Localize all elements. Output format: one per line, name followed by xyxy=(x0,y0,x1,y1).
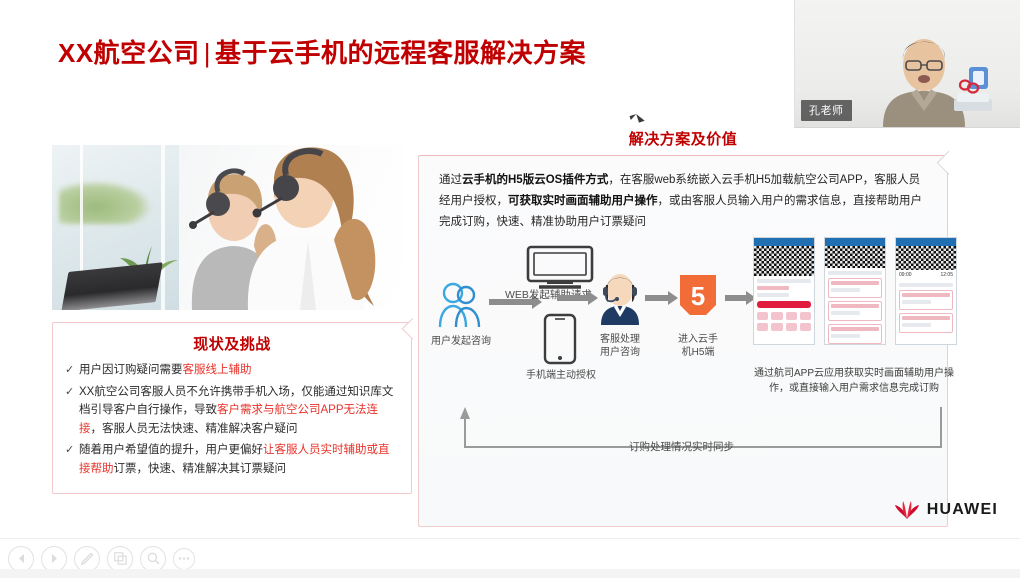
highlighted-text: 客服线上辅助 xyxy=(183,364,252,376)
page-title: XX航空公司|基于云手机的远程客服解决方案 xyxy=(58,33,586,70)
emphasis-text: 可获取实时画面辅助用户操作 xyxy=(508,195,658,207)
solution-flow-diagram: 用户发起咨询 WEB发起辅助请求 xyxy=(433,243,933,498)
toolbar-bottom-strip xyxy=(0,569,1020,578)
slide-canvas: XX航空公司|基于云手机的远程客服解决方案 xyxy=(0,0,1020,538)
phone-row xyxy=(831,311,860,315)
desk-object xyxy=(948,63,998,117)
window-greenery xyxy=(59,181,151,224)
plain-text: ，客服人员无法快速、精准解决客户疑问 xyxy=(91,423,298,435)
phone-screenshot-1 xyxy=(753,237,815,345)
flow-label-agent: 客服处理 用户咨询 xyxy=(585,333,655,359)
grid-cell xyxy=(771,323,782,331)
solution-panel: 通过云手机的H5版云OS插件方式，在客服web系统嵌入云手机H5加载航空公司AP… xyxy=(418,155,948,527)
list-item: ✓随着用户希望值的提升，用户更偏好让客服人员实时辅助或直接帮助订票，快速、精准解… xyxy=(65,441,399,478)
phones-caption: 通过航司APP云应用获取实时画面辅助用户操作，或直接输入用户需求信息完成订购 xyxy=(751,367,957,396)
fare-row xyxy=(899,313,953,333)
phone-row xyxy=(831,334,860,338)
participant-name-tag: 孔老师 xyxy=(801,100,852,121)
depart-time: 09:00 xyxy=(899,272,912,278)
phone-row xyxy=(831,281,879,285)
emphasis-text: H5版云OS xyxy=(508,174,562,186)
redacted-banner xyxy=(754,246,814,276)
flight-card xyxy=(828,324,882,344)
huawei-flower-icon xyxy=(894,500,920,520)
title-main: XX航空公司 xyxy=(58,38,200,68)
phone-cta-button xyxy=(757,301,811,308)
phone-row xyxy=(902,300,931,304)
html5-icon: 5 xyxy=(676,271,720,319)
bottom-toolbar xyxy=(0,538,1020,578)
phone-statusbar xyxy=(896,238,956,246)
challenges-card: 现状及挑战 ✓用户因订购疑问需要客服线上辅助✓XX航空公司客服人员不允许携带手机… xyxy=(52,322,412,494)
phone-row xyxy=(902,316,950,320)
solution-paragraph: 通过云手机的H5版云OS插件方式，在客服web系统嵌入云手机H5加载航空公司AP… xyxy=(433,170,933,233)
grid-cell xyxy=(800,312,811,320)
phone-screenshot-3: 09:00 12:05 xyxy=(895,237,957,345)
chevron-left-icon xyxy=(16,553,27,564)
flight-times: 09:00 12:05 xyxy=(896,270,956,280)
phone-body xyxy=(825,268,885,345)
list-item-text: 用户因订购疑问需要客服线上辅助 xyxy=(79,361,399,380)
plain-text: 随着用户希望值的提升，用户更偏好 xyxy=(79,444,263,456)
phone-row xyxy=(757,286,789,290)
next-slide-button[interactable] xyxy=(41,546,67,572)
phone-row xyxy=(831,304,879,308)
prev-slide-button[interactable] xyxy=(8,546,34,572)
grid-cell xyxy=(757,312,768,320)
fare-row xyxy=(899,290,953,310)
title-sub: 基于云手机的远程客服解决方案 xyxy=(215,38,586,68)
call-center-photo xyxy=(52,145,404,310)
phone-icon-grid xyxy=(757,312,811,331)
ellipsis-icon xyxy=(178,556,190,561)
chevron-right-icon xyxy=(49,553,60,564)
grid-cell xyxy=(786,312,797,320)
list-item: ✓用户因订购疑问需要客服线上辅助 xyxy=(65,361,399,380)
more-options-button[interactable] xyxy=(173,548,195,570)
grid-cell xyxy=(800,323,811,331)
huawei-wordmark: HUAWEI xyxy=(927,501,998,519)
phone-body xyxy=(896,280,956,339)
left-column: 现状及挑战 ✓用户因订购疑问需要客服线上辅助✓XX航空公司客服人员不允许携带手机… xyxy=(52,145,412,494)
emphasis-text: 插件方式 xyxy=(562,174,608,186)
phone-screenshots: 09:00 12:05 xyxy=(753,237,957,349)
magnifier-icon xyxy=(147,552,160,565)
list-item: ✓XX航空公司客服人员不允许携带手机入场，仅能通过知识库文档引导客户自行操作，导… xyxy=(65,383,399,439)
pen-icon xyxy=(80,552,94,566)
challenges-title: 现状及挑战 xyxy=(65,333,399,354)
phone-row xyxy=(757,293,789,297)
flow-label-h5: 进入云手 机H5端 xyxy=(665,333,731,359)
plain-text: 用户因订购疑问需要 xyxy=(79,364,183,376)
feedback-label: 订购处理情况实时同步 xyxy=(629,439,734,454)
check-icon: ✓ xyxy=(65,441,79,460)
list-item-text: 随着用户希望值的提升，用户更偏好让客服人员实时辅助或直接帮助订票，快速、精准解决… xyxy=(79,441,399,478)
phone-statusbar xyxy=(825,238,885,246)
phone-statusbar xyxy=(754,238,814,246)
mouse-cursor xyxy=(630,114,638,120)
users-icon xyxy=(437,281,483,329)
phone-row xyxy=(831,288,860,292)
plain-text: 通过 xyxy=(439,174,462,186)
redacted-banner xyxy=(825,246,885,268)
zoom-button[interactable] xyxy=(140,546,166,572)
redacted-banner xyxy=(896,246,956,270)
arrow-h5-to-phones xyxy=(725,295,747,301)
list-item-text: XX航空公司客服人员不允许携带手机入场，仅能通过知识库文档引导客户自行操作，导致… xyxy=(79,383,399,439)
monitor-icon xyxy=(525,245,595,293)
arrive-time: 12:05 xyxy=(940,272,953,278)
phone-row xyxy=(902,293,950,297)
grid-cell xyxy=(771,312,782,320)
phone-row xyxy=(899,283,953,287)
plain-text: 订票，快速、精准解决其订票疑问 xyxy=(114,463,287,475)
phone-screenshot-2 xyxy=(824,237,886,345)
arrow-agent-to-h5 xyxy=(645,295,669,301)
slide-layout-button[interactable] xyxy=(107,546,133,572)
solution-title: 解决方案及价值 xyxy=(418,128,948,149)
flow-label-user: 用户发起咨询 xyxy=(425,335,497,348)
check-icon: ✓ xyxy=(65,383,79,402)
emphasis-text: 云手机的 xyxy=(462,174,508,186)
agent-front-person xyxy=(238,145,388,310)
layers-icon xyxy=(114,552,127,565)
challenges-bullet-list: ✓用户因订购疑问需要客服线上辅助✓XX航空公司客服人员不允许携带手机入场，仅能通… xyxy=(65,361,399,478)
flight-card xyxy=(828,301,882,321)
flow-label-tablet: 手机端主动授权 xyxy=(511,369,611,382)
grid-cell xyxy=(757,323,768,331)
phone-row xyxy=(902,323,931,327)
presentation-screen: XX航空公司|基于云手机的远程客服解决方案 xyxy=(0,0,1020,578)
svg-text:5: 5 xyxy=(691,281,705,311)
arrow-web-to-agent xyxy=(557,295,589,301)
annotate-button[interactable] xyxy=(74,546,100,572)
right-column: 解决方案及价值 通过云手机的H5版云OS插件方式，在客服web系统嵌入云手机H5… xyxy=(418,128,948,527)
title-divider: | xyxy=(200,38,215,68)
huawei-logo: HUAWEI xyxy=(894,500,998,520)
flight-card xyxy=(828,278,882,298)
phone-row xyxy=(757,279,811,283)
grid-cell xyxy=(786,323,797,331)
phone-body xyxy=(754,276,814,334)
phone-row xyxy=(831,327,879,331)
presenter-video-tile[interactable]: 孔老师 xyxy=(794,0,1020,128)
phone-row xyxy=(828,271,882,275)
check-icon: ✓ xyxy=(65,361,79,380)
headset-agent-icon xyxy=(597,271,643,325)
tablet-icon xyxy=(543,313,577,365)
